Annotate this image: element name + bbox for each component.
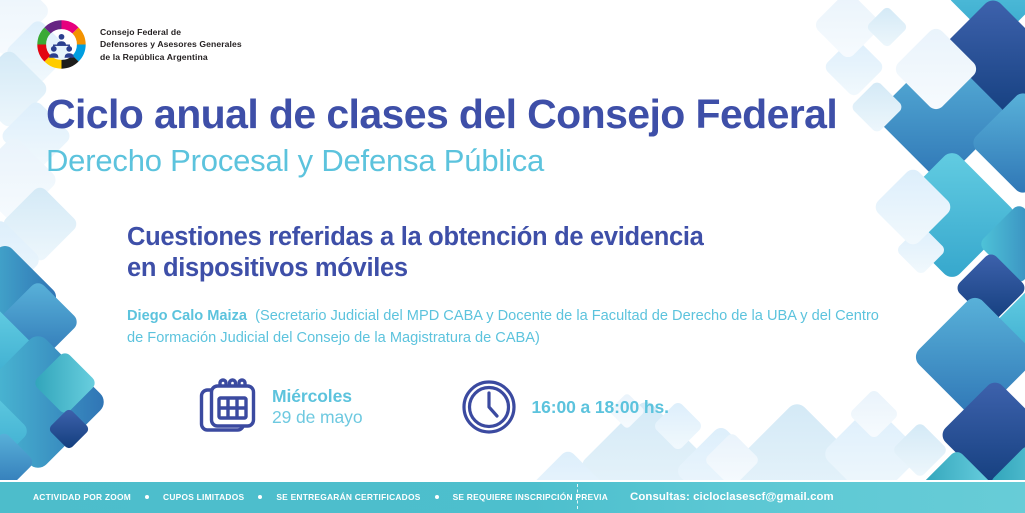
footer-notes-group: ACTIVIDAD POR ZOOM CUPOS LIMITADOS SE EN… bbox=[0, 492, 608, 502]
footer-note-2: SE ENTREGARÁN CERTIFICADOS bbox=[276, 492, 420, 502]
event-time-item: 16:00 a 18:00 hs. bbox=[461, 379, 668, 435]
event-time-text: 16:00 a 18:00 hs. bbox=[531, 397, 668, 418]
footer-note-1: CUPOS LIMITADOS bbox=[163, 492, 244, 502]
page-subtitle: Derecho Procesal y Defensa Pública bbox=[46, 142, 837, 181]
consejo-federal-circular-logo-icon bbox=[34, 17, 89, 72]
footer-bullet-icon bbox=[435, 495, 439, 499]
talk-title-line1: Cuestiones referidas a la obtención de e… bbox=[127, 222, 887, 253]
event-poster: Consejo Federal de Defensores y Asesores… bbox=[0, 0, 1025, 513]
footer-note-0: ACTIVIDAD POR ZOOM bbox=[33, 492, 131, 502]
speaker-name: Diego Calo Maiza bbox=[127, 308, 247, 324]
event-date-item: Miércoles 29 de mayo bbox=[198, 378, 362, 436]
event-date-text: Miércoles 29 de mayo bbox=[272, 386, 362, 427]
talk-title-line2: en dispositivos móviles bbox=[127, 253, 887, 284]
brand-logo-block: Consejo Federal de Defensores y Asesores… bbox=[34, 17, 242, 72]
event-time-label: 16:00 a 18:00 hs. bbox=[531, 397, 668, 418]
brand-logo-text: Consejo Federal de Defensores y Asesores… bbox=[100, 26, 242, 63]
footer-top-rule bbox=[0, 480, 1025, 482]
footer-bullet-icon bbox=[145, 495, 149, 499]
speaker-line: Diego Calo Maiza (Secretario Judicial de… bbox=[127, 305, 887, 349]
event-day-label: Miércoles bbox=[272, 386, 362, 407]
header-title-block: Ciclo anual de clases del Consejo Federa… bbox=[46, 92, 837, 181]
footer-contact[interactable]: Consultas: cicloclasescf@gmail.com bbox=[630, 491, 834, 503]
calendar-icon bbox=[198, 378, 258, 436]
footer-bullet-icon bbox=[258, 495, 262, 499]
page-title: Ciclo anual de clases del Consejo Federa… bbox=[46, 92, 837, 136]
talk-title: Cuestiones referidas a la obtención de e… bbox=[127, 222, 887, 284]
footer-note-3: SE REQUIERE INSCRIPCIÓN PREVIA bbox=[453, 492, 609, 502]
clock-icon bbox=[461, 379, 517, 435]
talk-block: Cuestiones referidas a la obtención de e… bbox=[127, 222, 887, 350]
event-info-row: Miércoles 29 de mayo 16:00 a 18:00 hs. bbox=[198, 378, 669, 436]
event-date-label: 29 de mayo bbox=[272, 407, 362, 428]
footer-bar: ACTIVIDAD POR ZOOM CUPOS LIMITADOS SE EN… bbox=[0, 480, 1025, 513]
footer-divider bbox=[577, 484, 578, 509]
